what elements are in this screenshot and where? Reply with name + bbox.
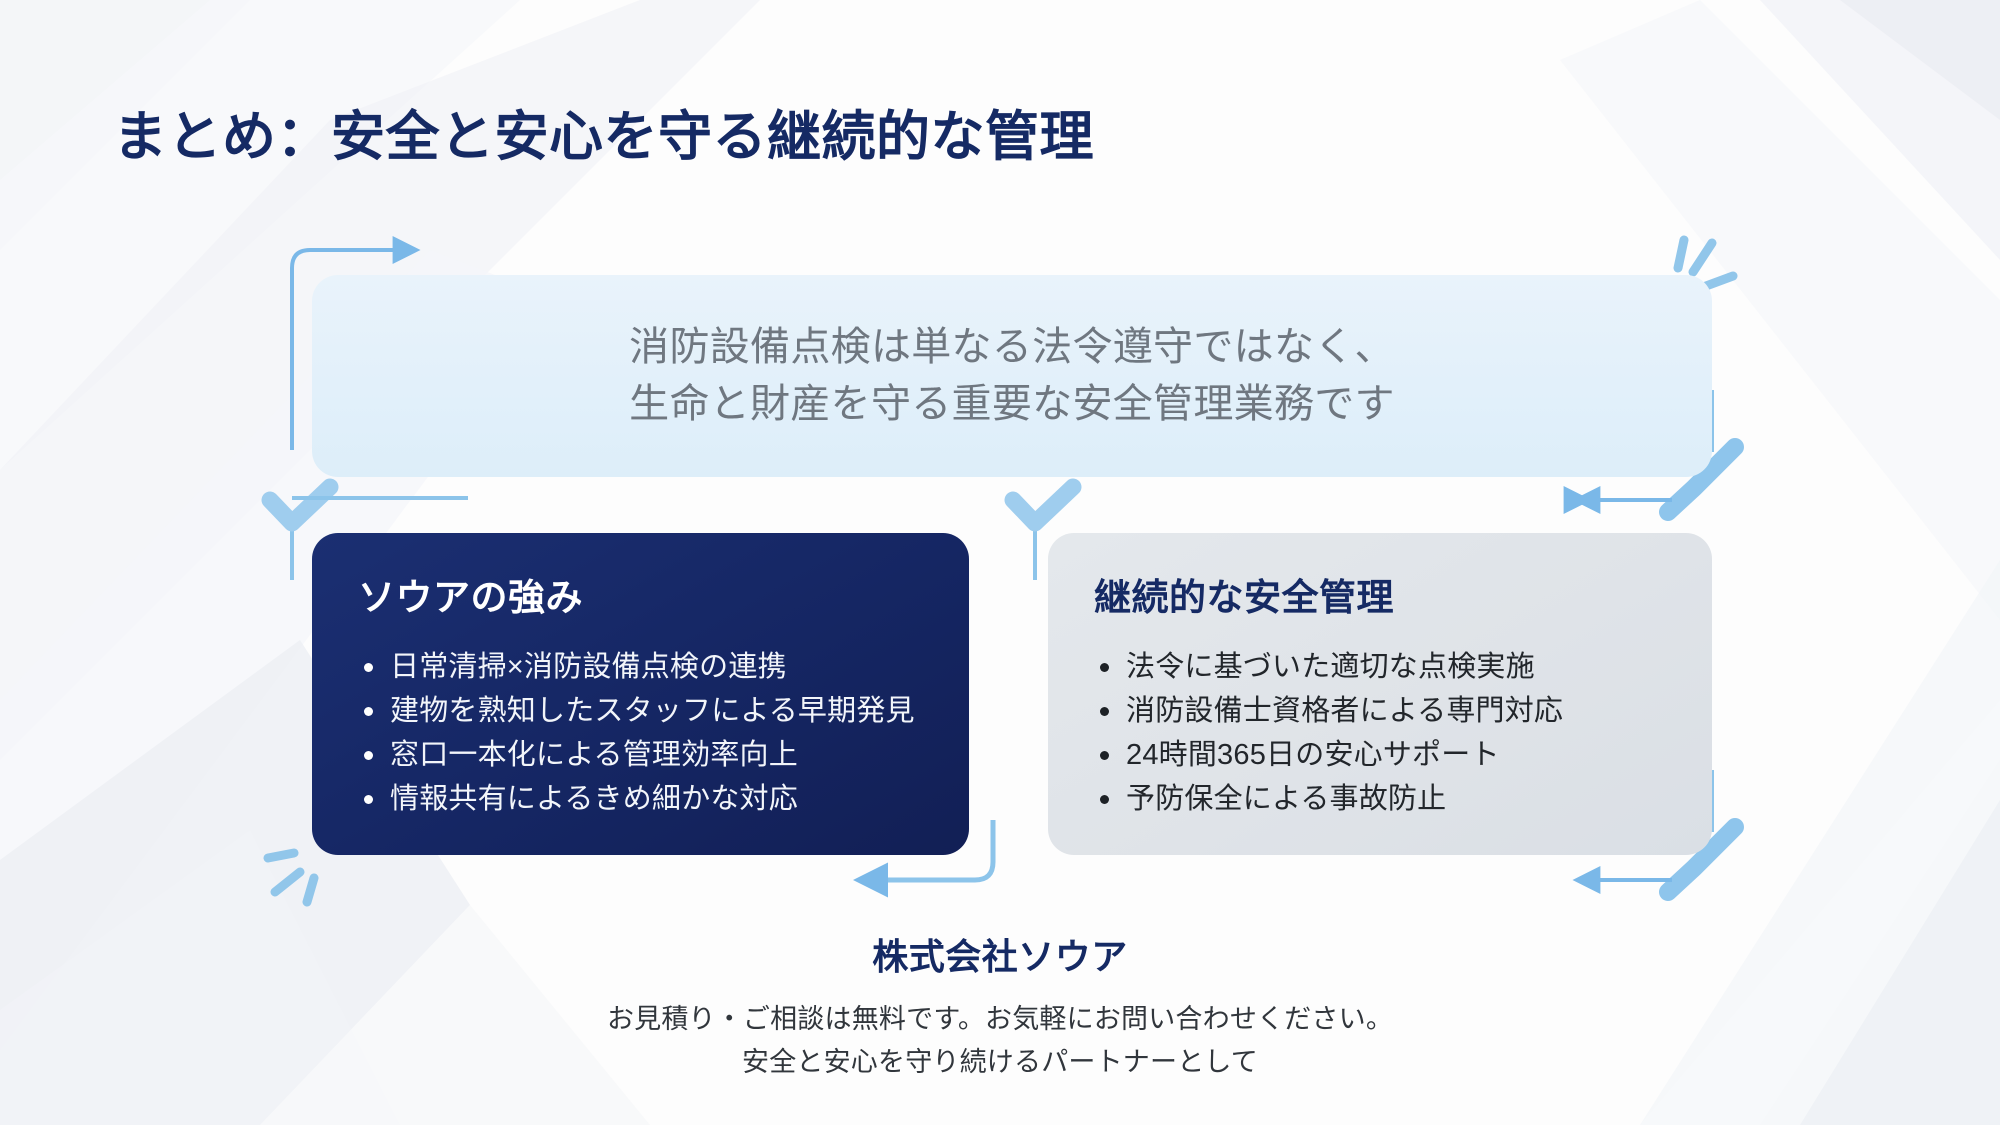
list-item: 消防設備士資格者による専門対応 xyxy=(1088,689,1672,733)
slide-canvas: まとめ：安全と安心を守る継続的な管理 xyxy=(0,0,2000,1125)
list-item: 情報共有によるきめ細かな対応 xyxy=(352,777,929,821)
panel-safety: 継続的な安全管理 法令に基づいた適切な点検実施 消防設備士資格者による専門対応 … xyxy=(1048,533,1712,855)
footer-line-2: 安全と安心を守り続けるパートナーとして xyxy=(0,1041,2000,1084)
footer-line-1: お見積り・ご相談は無料です。お気軽にお問い合わせください。 xyxy=(0,998,2000,1041)
panel-safety-list: 法令に基づいた適切な点検実施 消防設備士資格者による専門対応 24時間365日の… xyxy=(1088,645,1672,821)
list-item: 窓口一本化による管理効率向上 xyxy=(352,733,929,777)
summary-callout-box: 消防設備点検は単なる法令遵守ではなく、 生命と財産を守る重要な安全管理業務です xyxy=(312,275,1712,477)
list-item: 法令に基づいた適切な点検実施 xyxy=(1088,645,1672,689)
company-name: 株式会社ソウア xyxy=(0,928,2000,980)
footer-block: 株式会社ソウア お見積り・ご相談は無料です。お気軽にお問い合わせください。 安全… xyxy=(0,928,2000,1084)
list-item: 24時間365日の安心サポート xyxy=(1088,733,1672,777)
panel-strengths-heading: ソウアの強み xyxy=(358,567,929,621)
panel-strengths: ソウアの強み 日常清掃×消防設備点検の連携 建物を熟知したスタッフによる早期発見… xyxy=(312,533,969,855)
panel-strengths-list: 日常清掃×消防設備点検の連携 建物を熟知したスタッフによる早期発見 窓口一本化に… xyxy=(352,645,929,821)
callout-line-2: 生命と財産を守る重要な安全管理業務です xyxy=(629,376,1395,433)
page-title: まとめ：安全と安心を守る継続的な管理 xyxy=(113,92,1094,171)
list-item: 日常清掃×消防設備点検の連携 xyxy=(352,645,929,689)
panel-safety-heading: 継続的な安全管理 xyxy=(1094,567,1672,621)
callout-line-1: 消防設備点検は単なる法令遵守ではなく、 xyxy=(629,319,1395,376)
list-item: 建物を熟知したスタッフによる早期発見 xyxy=(352,689,929,733)
list-item: 予防保全による事故防止 xyxy=(1088,777,1672,821)
